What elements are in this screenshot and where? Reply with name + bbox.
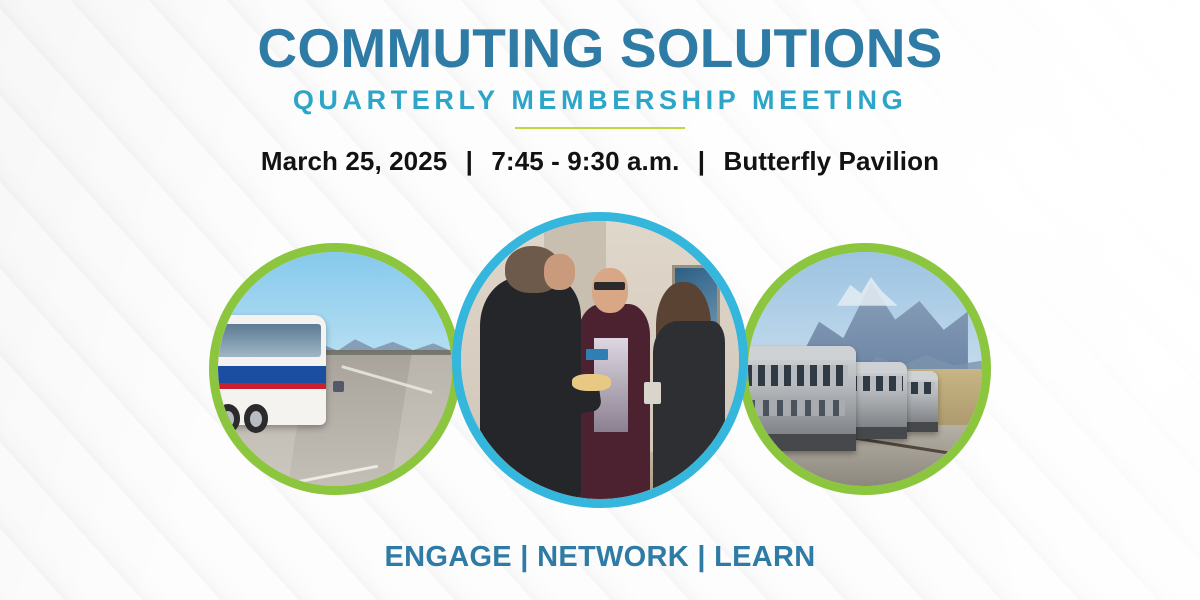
train-photo bbox=[748, 252, 982, 486]
footer-tagline: ENGAGE | NETWORK | LEARN bbox=[0, 541, 1200, 574]
attendee-left-face bbox=[544, 254, 575, 290]
bus-hubcap-rear bbox=[250, 411, 262, 427]
attendee-center-glasses bbox=[594, 282, 625, 290]
photo-cluster bbox=[0, 0, 1200, 600]
photo-circle-bus bbox=[209, 243, 461, 495]
attendee-center-face bbox=[592, 268, 628, 312]
bus-windows bbox=[218, 324, 321, 357]
train-car-lead-skirt bbox=[748, 434, 856, 451]
photo-circle-train bbox=[739, 243, 991, 495]
bus-blue-stripe bbox=[218, 366, 326, 384]
train-car-lead-roof bbox=[748, 346, 856, 361]
bus-hubcap-front bbox=[222, 411, 234, 427]
transit-bus bbox=[218, 315, 326, 425]
train-car-lead-windows-lower bbox=[748, 400, 845, 416]
event-poster: COMMUTING SOLUTIONS QUARTERLY MEMBERSHIP… bbox=[0, 0, 1200, 600]
attendee-name-badge bbox=[586, 349, 608, 360]
food-plate bbox=[572, 374, 611, 391]
coffee-cup bbox=[644, 382, 661, 404]
photo-circle-networking bbox=[452, 212, 748, 508]
train-car-lead-windows-upper bbox=[748, 365, 848, 386]
bus-photo bbox=[218, 252, 452, 486]
attendee-right-body bbox=[653, 321, 725, 499]
bus-distant-vehicle bbox=[333, 381, 345, 393]
bus-red-stripe bbox=[218, 383, 326, 388]
train-car-lead bbox=[748, 346, 856, 451]
networking-photo bbox=[461, 221, 739, 499]
train-car-middle-windows bbox=[850, 376, 904, 391]
